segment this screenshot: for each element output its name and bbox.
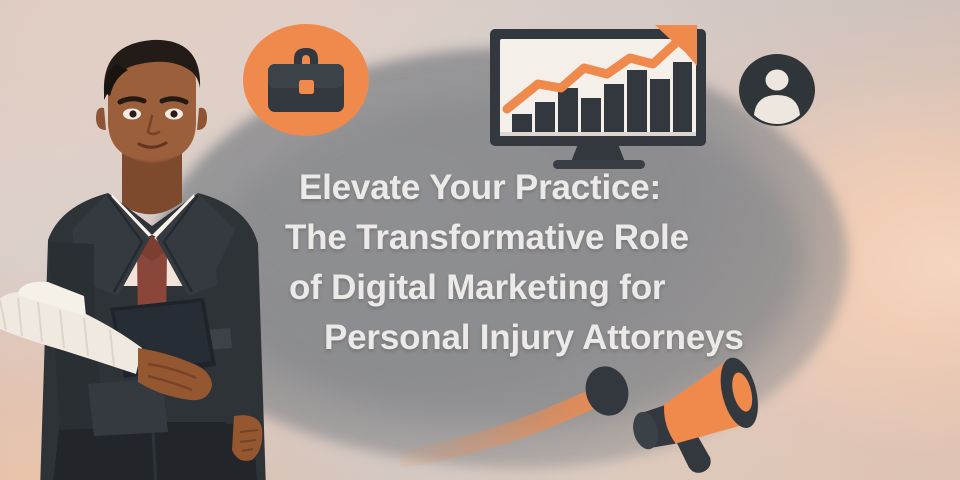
headline-line-1: Elevate Your Practice: (285, 163, 905, 213)
headline-line-2: The Transformative Role (285, 213, 905, 263)
monitor-growth-chart-icon (483, 22, 713, 177)
user-avatar-icon (738, 52, 816, 128)
megaphone-group (400, 355, 800, 480)
headline-line-3: of Digital Marketing for (285, 263, 905, 313)
briefcase-icon (243, 24, 369, 136)
banner-hero: Elevate Your Practice: The Transformativ… (0, 0, 960, 480)
hero-headline: Elevate Your Practice: The Transformativ… (285, 163, 905, 363)
headline-line-4: Personal Injury Attorneys (285, 313, 905, 363)
